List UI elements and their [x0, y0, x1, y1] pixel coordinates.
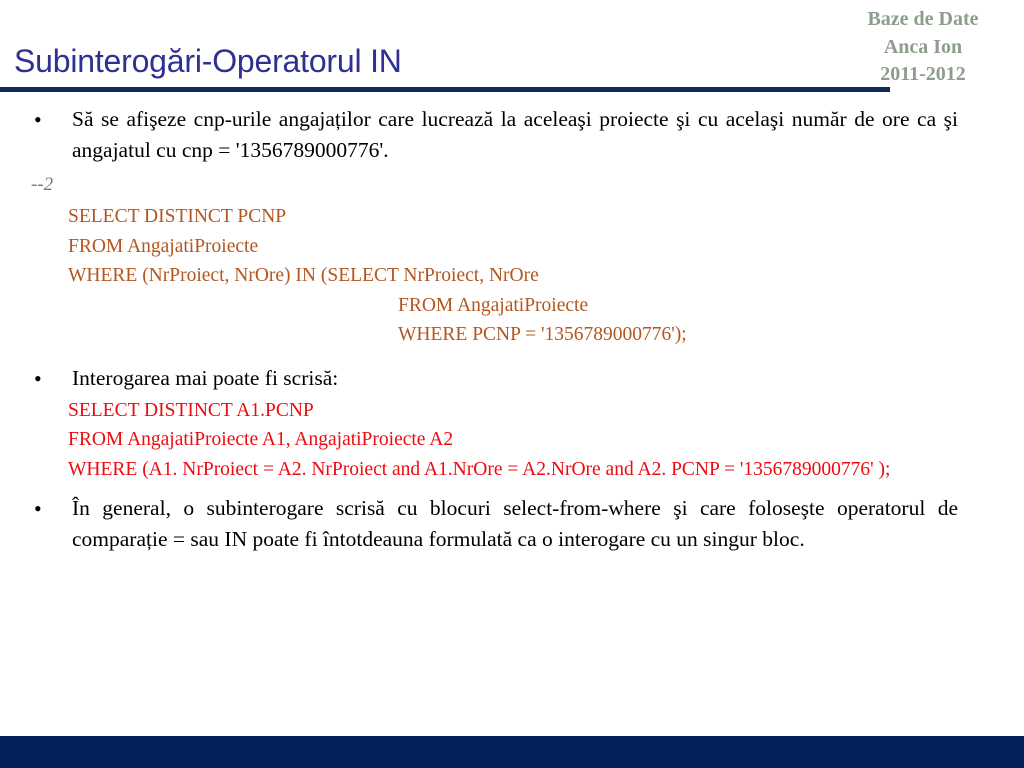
sql-line: WHERE (A1. NrProiect = A2. NrProiect and…	[68, 455, 958, 485]
sql-block-1: SELECT DISTINCT PCNP FROM AngajatiProiec…	[0, 202, 1024, 350]
header-course: Baze de Date	[828, 6, 1018, 34]
sql-line: WHERE PCNP = '1356789000776');	[68, 320, 958, 350]
bullet-icon: •	[34, 363, 42, 394]
bullet-icon: •	[34, 104, 42, 135]
title-divider	[0, 87, 890, 92]
header-year: 2011-2012	[828, 61, 1018, 89]
spacer	[0, 484, 1024, 493]
header-meta: Baze de Date Anca Ion 2011-2012	[828, 6, 1018, 89]
sql-line: SELECT DISTINCT A1.PCNP	[68, 396, 958, 426]
slide-content: • Să se afişeze cnp-urile angajaților ca…	[0, 104, 1024, 557]
bullet-text-1: Să se afişeze cnp-urile angajaților care…	[72, 104, 958, 166]
sql-line: SELECT DISTINCT PCNP	[68, 202, 958, 232]
header-author: Anca Ion	[828, 34, 1018, 62]
note-label: --2	[0, 172, 1024, 198]
bullet-item-1: • Să se afişeze cnp-urile angajaților ca…	[0, 104, 1024, 166]
bullet-text-2: Interogarea mai poate fi scrisă:	[72, 363, 958, 394]
sql-line: FROM AngajatiProiecte	[68, 291, 958, 321]
bullet-text-3: În general, o subinterogare scrisă cu bl…	[72, 493, 958, 555]
sql-line: WHERE (NrProiect, NrOre) IN (SELECT NrPr…	[68, 261, 958, 291]
page-title: Subinterogări-Operatorul IN	[14, 43, 402, 80]
bullet-icon: •	[34, 493, 42, 524]
slide-root: Subinterogări-Operatorul IN Baze de Date…	[0, 0, 1024, 768]
bullet-item-2: • Interogarea mai poate fi scrisă:	[0, 363, 1024, 394]
spacer	[0, 350, 1024, 363]
bullet-item-3: • În general, o subinterogare scrisă cu …	[0, 493, 1024, 555]
sql-line: FROM AngajatiProiecte	[68, 232, 958, 262]
footer-bar	[0, 736, 1024, 768]
sql-block-2: SELECT DISTINCT A1.PCNP FROM AngajatiPro…	[0, 396, 1024, 485]
sql-line: FROM AngajatiProiecte A1, AngajatiProiec…	[68, 425, 958, 455]
